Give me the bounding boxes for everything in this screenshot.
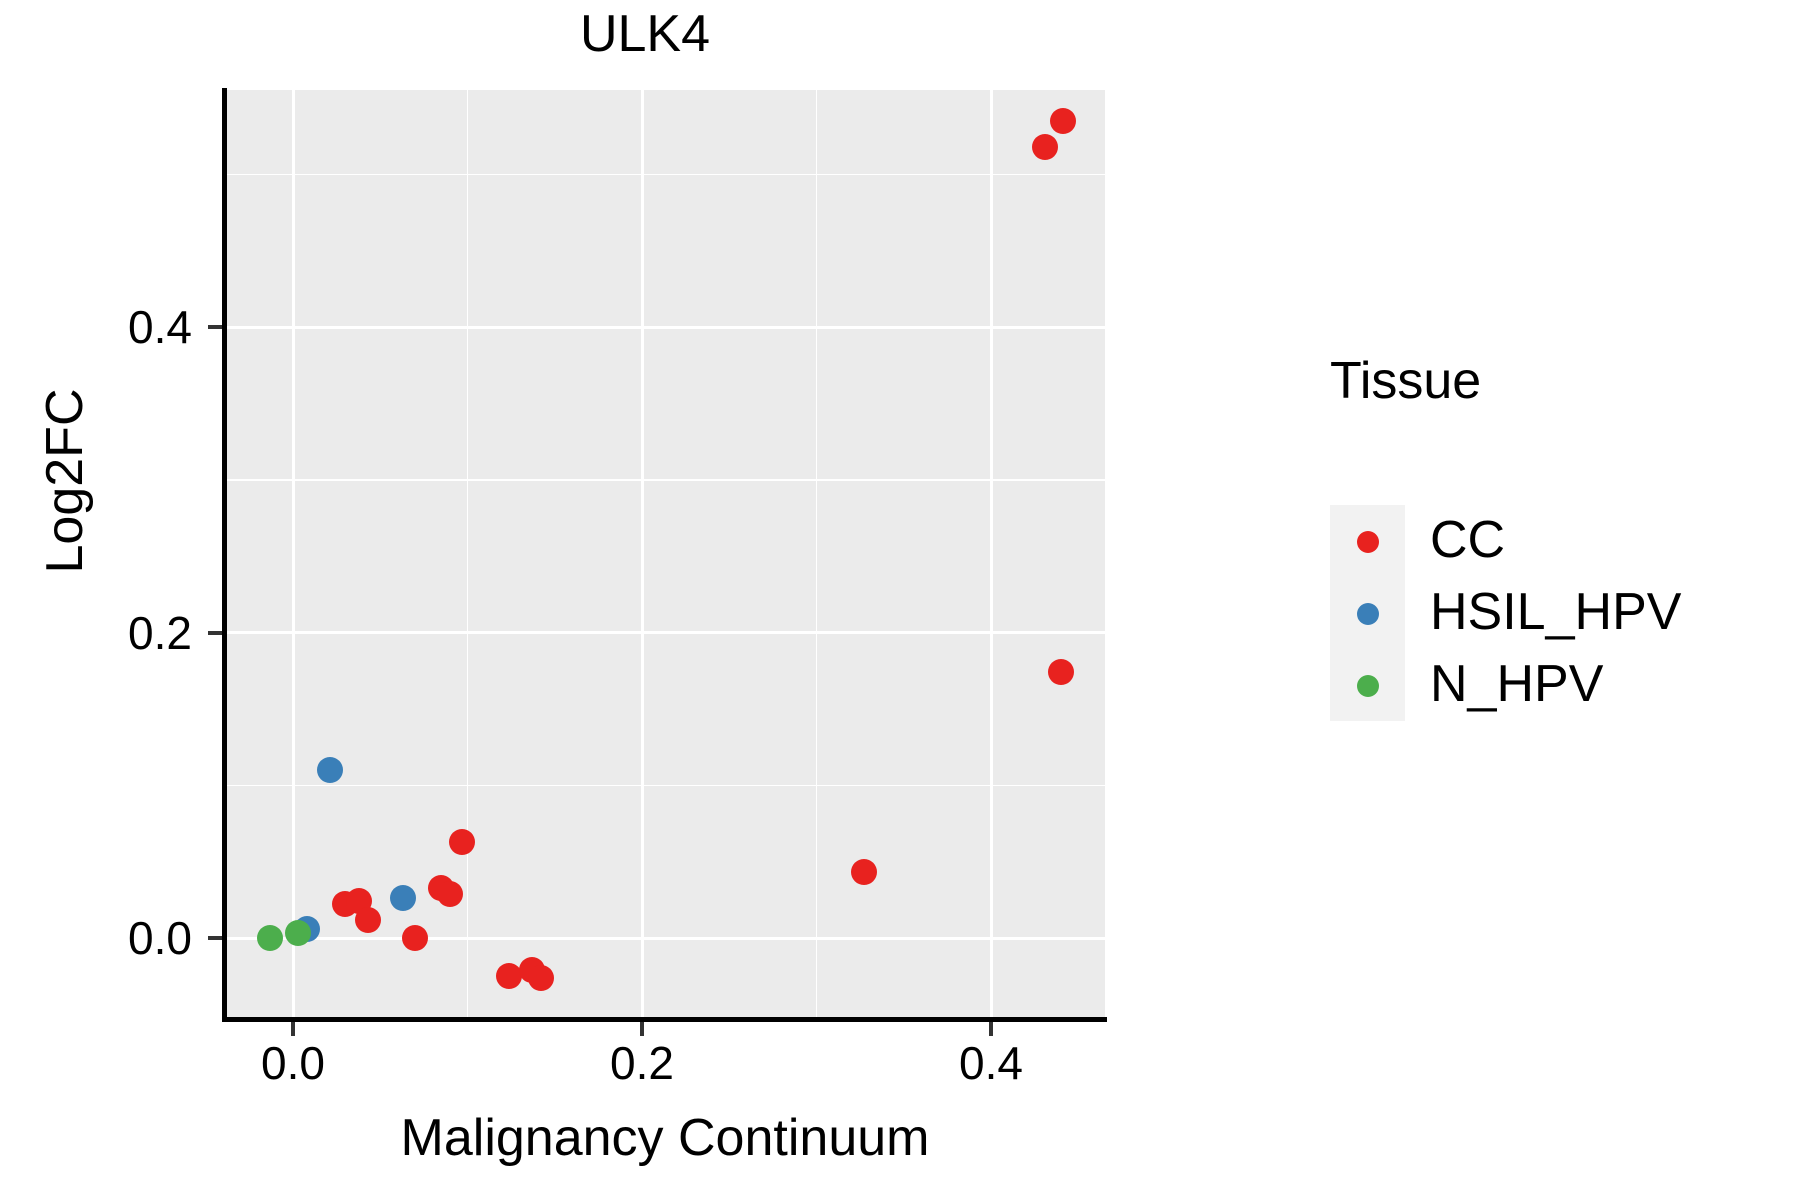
x-axis-tick [640, 1022, 644, 1036]
gridline-minor-vertical [467, 90, 469, 1019]
x-axis-tick-label: 0.4 [891, 1040, 1091, 1086]
gridline-major-vertical [990, 90, 993, 1019]
data-point-cc [449, 829, 475, 855]
legend-item-cc[interactable]: CC [1330, 505, 1760, 577]
legend-item-label: HSIL_HPV [1430, 579, 1681, 645]
legend-item-label: N_HPV [1430, 651, 1603, 717]
data-point-cc [402, 925, 428, 951]
legend-item-label: CC [1430, 507, 1505, 573]
x-axis-tick [291, 1022, 295, 1036]
x-axis-tick-label: 0.2 [542, 1040, 742, 1086]
legend-title: Tissue [1330, 355, 1481, 407]
legend-dot-icon [1330, 577, 1405, 649]
gridline-minor-horizontal [225, 174, 1105, 176]
x-axis-line [222, 1017, 1107, 1022]
gridline-major-vertical [641, 90, 644, 1019]
y-axis-title: Log2FC [39, 311, 91, 651]
legend-dot-icon [1330, 505, 1405, 577]
y-axis-tick [208, 325, 222, 329]
y-axis-tick-label: 0.4 [12, 304, 192, 350]
gridline-minor-horizontal [225, 785, 1105, 787]
y-axis-tick [208, 631, 222, 635]
data-point-hsil_hpv [317, 757, 343, 783]
legend-item-hsil_hpv[interactable]: HSIL_HPV [1330, 577, 1760, 649]
data-point-cc [1048, 659, 1074, 685]
y-axis-tick-label: 0.0 [12, 915, 192, 961]
data-point-cc [437, 881, 463, 907]
data-point-cc [1032, 134, 1058, 160]
gridline-major-horizontal [225, 326, 1105, 329]
x-axis-title: Malignancy Continuum [225, 1112, 1105, 1164]
gridline-minor-horizontal [225, 479, 1105, 481]
gridline-major-vertical [292, 90, 295, 1019]
chart-root: ULK4 Malignancy Continuum Log2FC Tissue … [0, 0, 1800, 1200]
data-point-cc [851, 859, 877, 885]
legend-item-n_hpv[interactable]: N_HPV [1330, 649, 1760, 721]
y-axis-tick-label: 0.2 [12, 610, 192, 656]
y-axis-tick [208, 936, 222, 940]
legend-dot-icon [1330, 649, 1405, 721]
x-axis-tick-label: 0.0 [193, 1040, 393, 1086]
x-axis-tick [989, 1022, 993, 1036]
data-point-cc [1050, 108, 1076, 134]
chart-title: ULK4 [0, 8, 1290, 60]
gridline-minor-vertical [816, 90, 818, 1019]
plot-panel [225, 90, 1105, 1019]
data-point-cc [355, 907, 381, 933]
gridline-major-horizontal [225, 631, 1105, 634]
data-point-cc [528, 965, 554, 991]
y-axis-line [222, 88, 227, 1021]
gridline-major-horizontal [225, 937, 1105, 940]
